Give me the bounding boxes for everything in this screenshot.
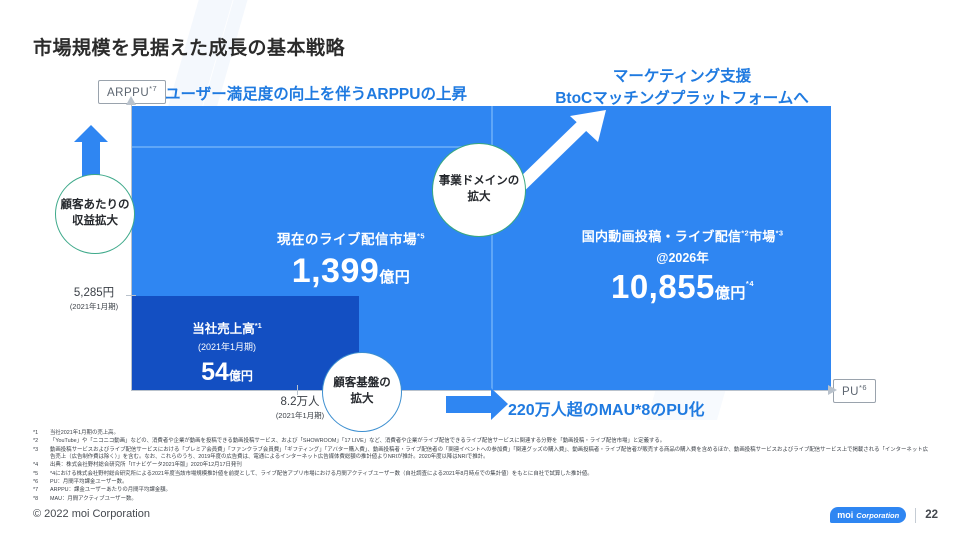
future-market-value: 10,855 <box>611 268 715 305</box>
future-market-caption-a: 国内動画投稿・ライブ配信 <box>582 229 742 244</box>
footer-divider <box>915 508 916 523</box>
headline-right: マーケティング支援 BtoCマッチングプラットフォームへ <box>548 66 816 110</box>
future-market-caption-b: 市場 <box>749 229 776 244</box>
headline-right-line1: マーケティング支援 <box>548 66 816 88</box>
footnote-text: 出典：株式会社野村総合研究所「ITナビゲータ2021年版」2020年12月17日… <box>50 462 933 470</box>
x-axis-tag: PU*6 <box>833 379 876 403</box>
footnote-item: *6PU：月間平均課金ユーザー数。 <box>33 479 933 487</box>
circle-domain-line2: 拡大 <box>439 190 520 206</box>
footnote-mark: *1 <box>33 430 50 438</box>
y-axis-tag-sup: *7 <box>149 84 157 93</box>
circle-revenue-per-customer: 顧客あたりの 収益拡大 <box>55 174 135 254</box>
current-market-label: 現在のライブ配信市場*5 1,399億円 <box>231 228 471 291</box>
own-sales-value: 54 <box>201 358 229 386</box>
footnotes-list: *1当社2021年1月期の売上高。 *2「YouTube」や「ニコニコ動画」など… <box>33 430 933 504</box>
copyright-text: © 2022 moi Corporation <box>33 508 150 520</box>
circle-base-line1: 顧客基盤の <box>333 376 391 392</box>
own-sales-label: 当社売上高*1 (2021年1月期) 54億円 <box>152 318 302 387</box>
footnote-mark: *6 <box>33 479 50 487</box>
own-sales-caption-text: 当社売上高 <box>192 322 255 336</box>
current-market-value-row: 1,399億円 <box>231 252 471 291</box>
y-axis-value-amount: 5,285円 <box>58 284 130 300</box>
circle-revenue-line2: 収益拡大 <box>61 214 130 230</box>
circle-customer-base: 顧客基盤の 拡大 <box>322 352 402 432</box>
current-market-caption: 現在のライブ配信市場*5 <box>231 228 471 248</box>
circle-revenue-line1: 顧客あたりの <box>61 198 130 214</box>
future-market-unit: 億円 <box>715 285 746 302</box>
footnote-item: *4出典：株式会社野村総合研究所「ITナビゲータ2021年版」2020年12月1… <box>33 462 933 470</box>
footnote-mark: *2 <box>33 438 50 446</box>
footnote-text: 動画投稿サービスおよびライブ配信サービスにおける「プレミア会員費」「ファンクラブ… <box>50 447 933 462</box>
footnote-item: *8MAU：月間アクティブユーザー数。 <box>33 496 933 504</box>
footnote-mark: *7 <box>33 487 50 495</box>
mau-conversion-text: 220万人超のMAU*8のPU化 <box>508 396 705 420</box>
current-market-top-band <box>131 106 491 146</box>
current-market-caption-sup: *5 <box>417 232 425 241</box>
footnote-text: 「YouTube」や「ニコニコ動画」などの、消費者や企業が動画を投稿できる動画投… <box>50 438 933 446</box>
current-market-unit: 億円 <box>379 269 410 286</box>
logo-suffix: Corporation <box>856 511 899 520</box>
circle-domain-line1: 事業ドメインの <box>439 174 520 190</box>
y-axis-value-period: (2021年1月期) <box>58 301 130 312</box>
own-sales-caption: 当社売上高*1 <box>152 318 302 337</box>
footnote-item: *7ARPPU：課金ユーザーあたりの月間平均課金額。 <box>33 487 933 495</box>
current-market-caption-text: 現在のライブ配信市場 <box>277 232 417 247</box>
logo-name: moi <box>837 510 853 520</box>
current-market-value: 1,399 <box>292 252 380 290</box>
x-axis-tag-label: PU <box>842 386 859 398</box>
footnote-text: PU：月間平均課金ユーザー数。 <box>50 479 933 487</box>
footnote-item: *1当社2021年1月期の売上高。 <box>33 430 933 438</box>
own-sales-caption-sup: *1 <box>255 321 262 330</box>
future-market-caption-sup-a: *2 <box>741 229 749 238</box>
market-divider-horizontal <box>131 146 491 148</box>
future-market-year: @2026年 <box>545 247 820 266</box>
footnote-mark: *3 <box>33 447 50 462</box>
x-axis-tag-sup: *6 <box>859 383 867 392</box>
y-axis-arrow-icon <box>126 96 136 105</box>
footnote-text: *4における株式会社野村総合研究所による2021年度当該市場規模推計値を前提とし… <box>50 471 933 479</box>
footnote-text: MAU：月間アクティブユーザー数。 <box>50 496 933 504</box>
pu-growth-arrow-icon <box>446 396 492 413</box>
footnote-text: ARPPU：課金ユーザーあたりの月間平均課金額。 <box>50 487 933 495</box>
headline-left: ユーザー満足度の向上を伴うARPPUの上昇 <box>165 82 467 104</box>
own-sales-value-row: 54億円 <box>152 358 302 387</box>
footnote-mark: *5 <box>33 471 50 479</box>
moi-logo: moi Corporation <box>830 507 906 523</box>
own-sales-period: (2021年1月期) <box>152 340 302 353</box>
y-axis-value: 5,285円 (2021年1月期) <box>58 284 130 312</box>
slide-root: 市場規模を見据えた成長の基本戦略 ユーザー満足度の向上を伴うARPPUの上昇 マ… <box>0 0 960 540</box>
future-market-caption-sup-b: *3 <box>776 229 784 238</box>
future-market-unit-sup: *4 <box>746 279 754 288</box>
footnote-item: *2「YouTube」や「ニコニコ動画」などの、消費者や企業が動画を投稿できる動… <box>33 438 933 446</box>
footnote-text: 当社2021年1月期の売上高。 <box>50 430 933 438</box>
future-market-label: 国内動画投稿・ライブ配信*2市場*3 @2026年 10,855億円*4 <box>545 226 820 306</box>
x-axis-line <box>131 390 831 391</box>
x-axis-arrow-icon <box>828 385 837 395</box>
footnote-item: *3動画投稿サービスおよびライブ配信サービスにおける「プレミア会員費」「ファンク… <box>33 447 933 462</box>
footnote-item: *5*4における株式会社野村総合研究所による2021年度当該市場規模推計値を前提… <box>33 471 933 479</box>
circle-business-domain: 事業ドメインの 拡大 <box>432 143 526 237</box>
page-title: 市場規模を見据えた成長の基本戦略 <box>33 33 345 60</box>
own-sales-unit: 億円 <box>229 369 253 383</box>
page-number: 22 <box>925 509 938 521</box>
y-axis-line <box>131 104 132 390</box>
footer-right: moi Corporation 22 <box>830 507 938 523</box>
future-market-caption: 国内動画投稿・ライブ配信*2市場*3 <box>545 226 820 245</box>
footnote-mark: *4 <box>33 462 50 470</box>
circle-base-line2: 拡大 <box>333 392 391 408</box>
footnote-mark: *8 <box>33 496 50 504</box>
future-market-value-row: 10,855億円*4 <box>545 268 820 306</box>
